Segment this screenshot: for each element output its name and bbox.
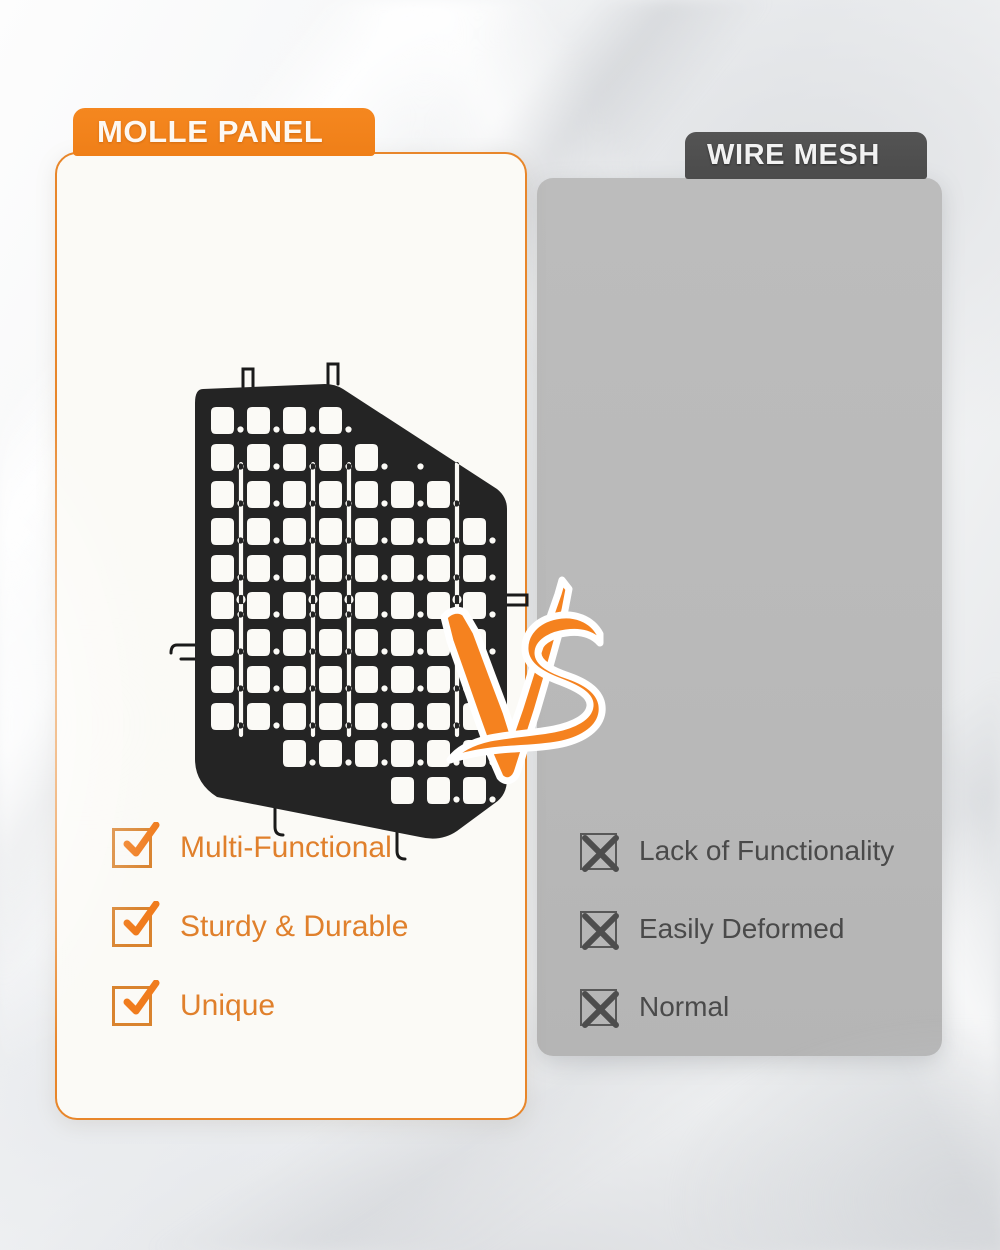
feature-row-sturdy-durable: Sturdy & Durable — [112, 887, 512, 966]
feature-row-lack-of-functionality: Lack of Functionality — [580, 812, 940, 890]
wire-mesh-feature-list: Lack of Functionality Easily Deformed No… — [580, 812, 940, 1046]
feature-label: Easily Deformed — [639, 913, 844, 945]
check-icon — [112, 828, 152, 868]
feature-row-normal: Normal — [580, 968, 940, 1046]
feature-label: Multi-Functional — [180, 831, 392, 865]
feature-row-unique: Unique — [112, 966, 512, 1045]
vs-divider — [432, 572, 627, 822]
tab-wire-mesh-label: WIRE MESH — [707, 139, 880, 172]
tab-molle-panel-label: MOLLE PANEL — [97, 114, 323, 150]
tab-molle-panel[interactable]: MOLLE PANEL — [73, 108, 375, 156]
feature-row-easily-deformed: Easily Deformed — [580, 890, 940, 968]
check-icon — [112, 907, 152, 947]
molle-panel-feature-list: Multi-Functional Sturdy & Durable Unique — [112, 808, 512, 1045]
infographic-canvas: MOLLE PANEL WIRE MESH Multi-Functional — [0, 0, 1000, 1250]
feature-label: Lack of Functionality — [639, 835, 894, 867]
feature-label: Sturdy & Durable — [180, 910, 408, 944]
cross-icon — [580, 833, 617, 870]
cross-icon — [580, 911, 617, 948]
cross-icon — [580, 989, 617, 1026]
tab-wire-mesh[interactable]: WIRE MESH — [685, 132, 927, 179]
check-icon — [112, 986, 152, 1026]
feature-label: Unique — [180, 989, 275, 1023]
feature-label: Normal — [639, 991, 729, 1023]
